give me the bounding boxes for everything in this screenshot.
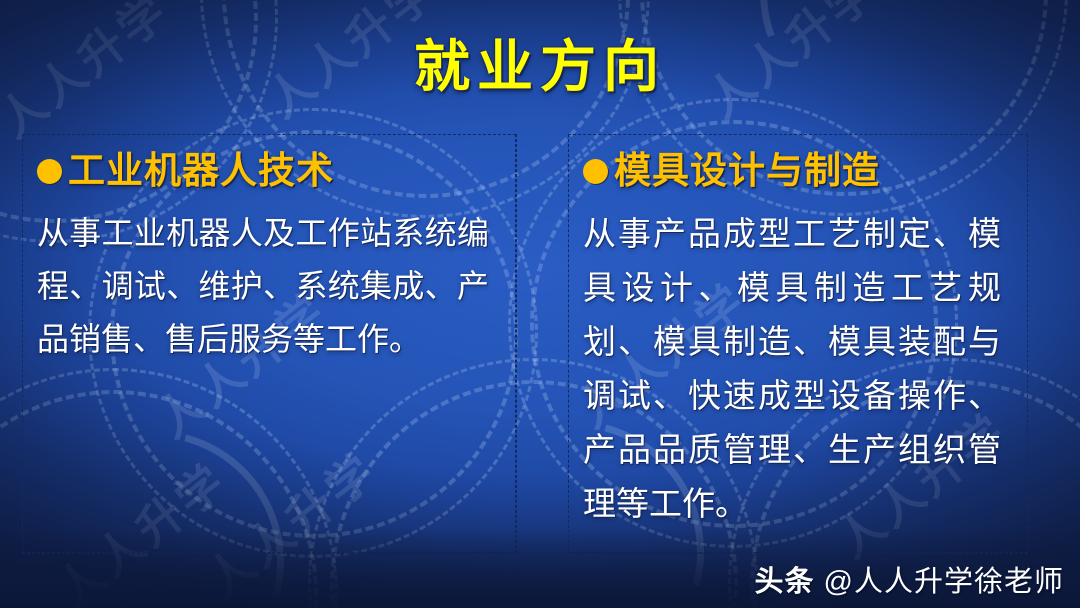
footer-handle-label: @人人升学徐老师 (824, 558, 1064, 600)
panel-heading-mold-design: 模具设计与制造 (583, 149, 1017, 193)
footer-attribution: 头条 @人人升学徐老师 (755, 558, 1064, 600)
panel-heading-label: 工业机器人技术 (68, 149, 334, 193)
page-title: 就业方向 (0, 36, 1080, 98)
panel-content: 工业机器人技术 从事工业机器人及工作站系统编程、调试、维护、系统集成、产品销售、… (23, 135, 515, 552)
panel-body-industrial-robot: 从事工业机器人及工作站系统编程、调试、维护、系统集成、产品销售、售后服务等工作。 (37, 207, 489, 366)
slide-canvas: 人人升学 人人升学 人人升学 人人升学 人人升学 人人升学 人人升学 人人升学 … (0, 0, 1080, 608)
divider-guide-line-bottom (22, 553, 1028, 554)
panel-body-mold-design: 从事产品成型工艺制定、模具设计、模具制造工艺规划、模具制造、模具装配与调试、快速… (583, 207, 1001, 531)
bullet-dot-icon (37, 159, 62, 184)
panel-industrial-robot: 工业机器人技术 从事工业机器人及工作站系统编程、调试、维护、系统集成、产品销售、… (22, 134, 516, 553)
panel-mold-design: 模具设计与制造 从事产品成型工艺制定、模具设计、模具制造工艺规划、模具制造、模具… (568, 134, 1028, 553)
bullet-dot-icon (583, 159, 608, 184)
divider-guide-line (516, 134, 517, 553)
panel-content: 模具设计与制造 从事产品成型工艺制定、模具设计、模具制造工艺规划、模具制造、模具… (569, 135, 1027, 552)
footer-brand-label: 头条 (755, 558, 815, 600)
panel-heading-label: 模具设计与制造 (614, 149, 880, 193)
panel-heading-industrial-robot: 工业机器人技术 (37, 149, 505, 193)
